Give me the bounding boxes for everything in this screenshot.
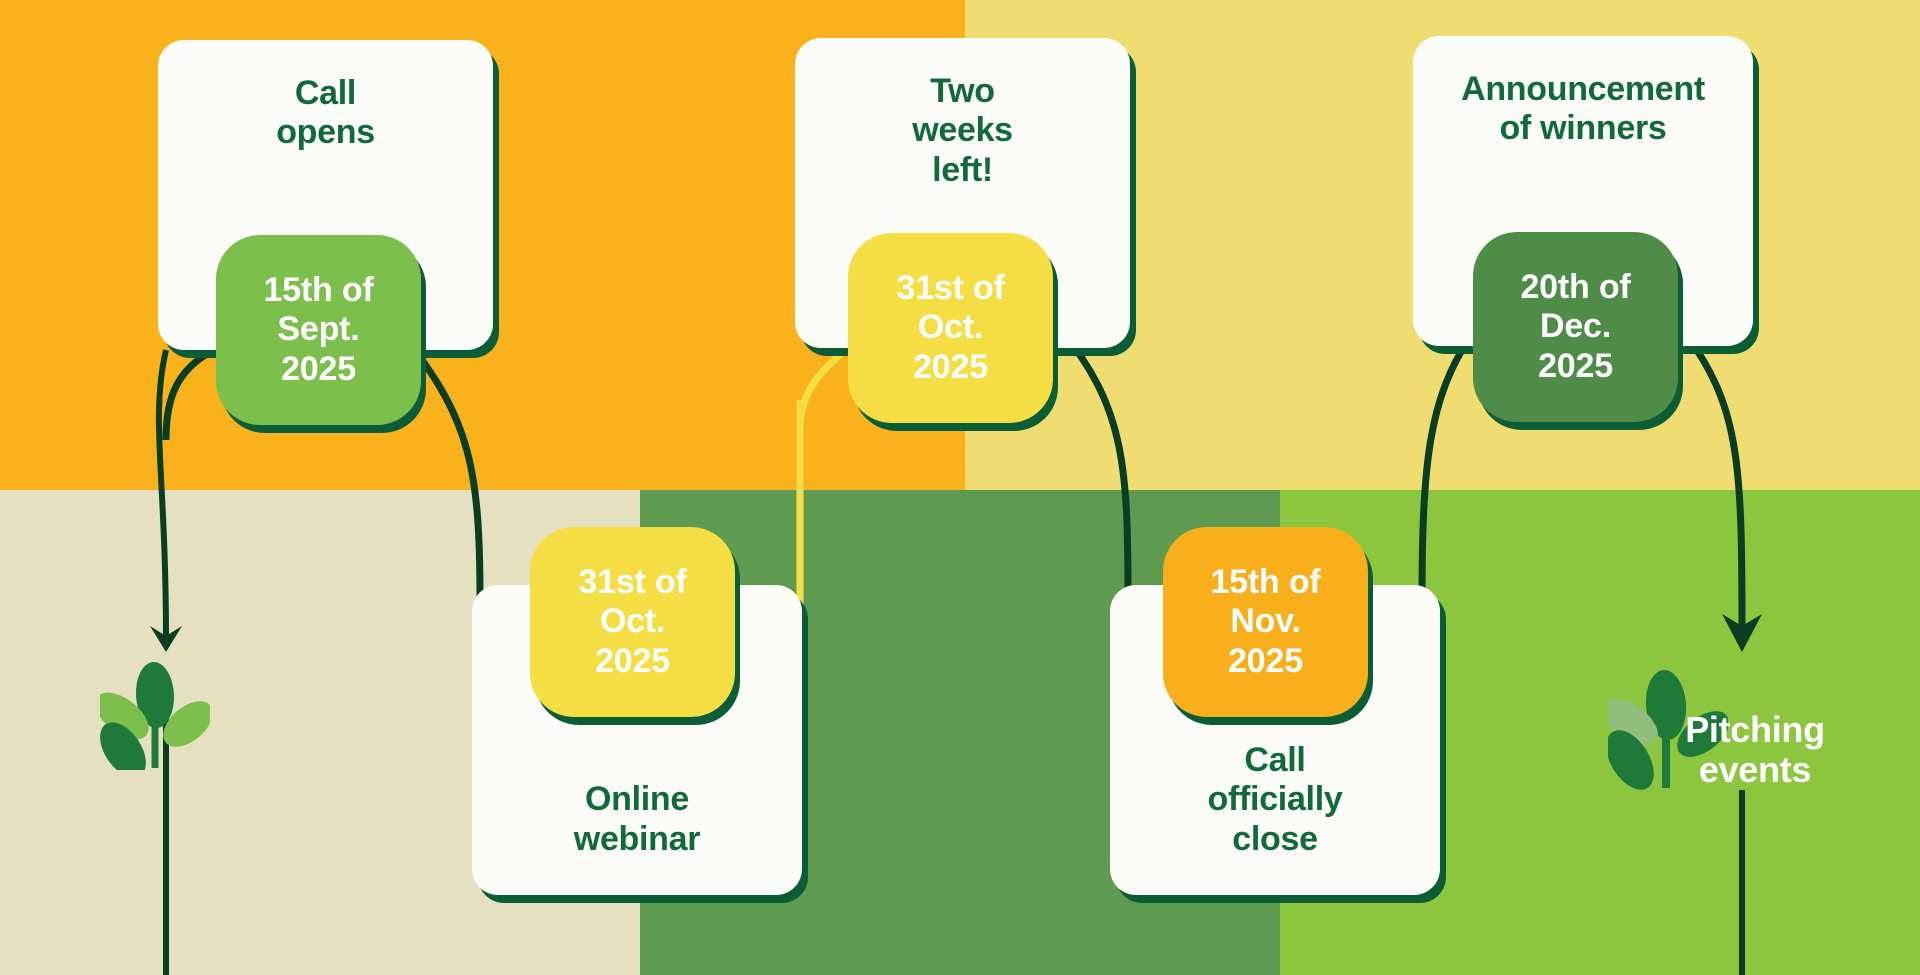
date-badge-text: 20th ofDec.2025 — [1520, 268, 1630, 386]
milestone-title: Announcementof winners — [1449, 36, 1717, 149]
date-badge-online-webinar[interactable]: 31st ofOct.2025 — [530, 527, 735, 717]
timeline-infographic: Callopens Twoweeksleft! Announcementof w… — [0, 0, 1920, 975]
date-badge-call-officially-close[interactable]: 15th ofNov.2025 — [1163, 527, 1368, 717]
date-badge-text: 15th ofNov.2025 — [1210, 563, 1320, 681]
sprout-icon-start — [100, 650, 210, 770]
date-badge-text: 15th ofSept.2025 — [263, 271, 373, 389]
date-badge-text: 31st ofOct.2025 — [578, 563, 686, 681]
date-badge-text: 31st ofOct.2025 — [896, 269, 1004, 387]
date-badge-call-opens[interactable]: 15th ofSept.2025 — [216, 235, 421, 425]
date-badge-announcement-of-winners[interactable]: 20th ofDec.2025 — [1473, 232, 1678, 422]
milestone-title: Onlinewebinar — [562, 780, 712, 895]
milestone-title: Callofficiallyclose — [1196, 741, 1355, 895]
milestone-title: Callopens — [264, 40, 387, 153]
pitching-events-label: Pitchingevents — [1650, 710, 1860, 791]
date-badge-two-weeks-left[interactable]: 31st ofOct.2025 — [848, 233, 1053, 423]
milestone-title: Twoweeksleft! — [900, 38, 1025, 190]
